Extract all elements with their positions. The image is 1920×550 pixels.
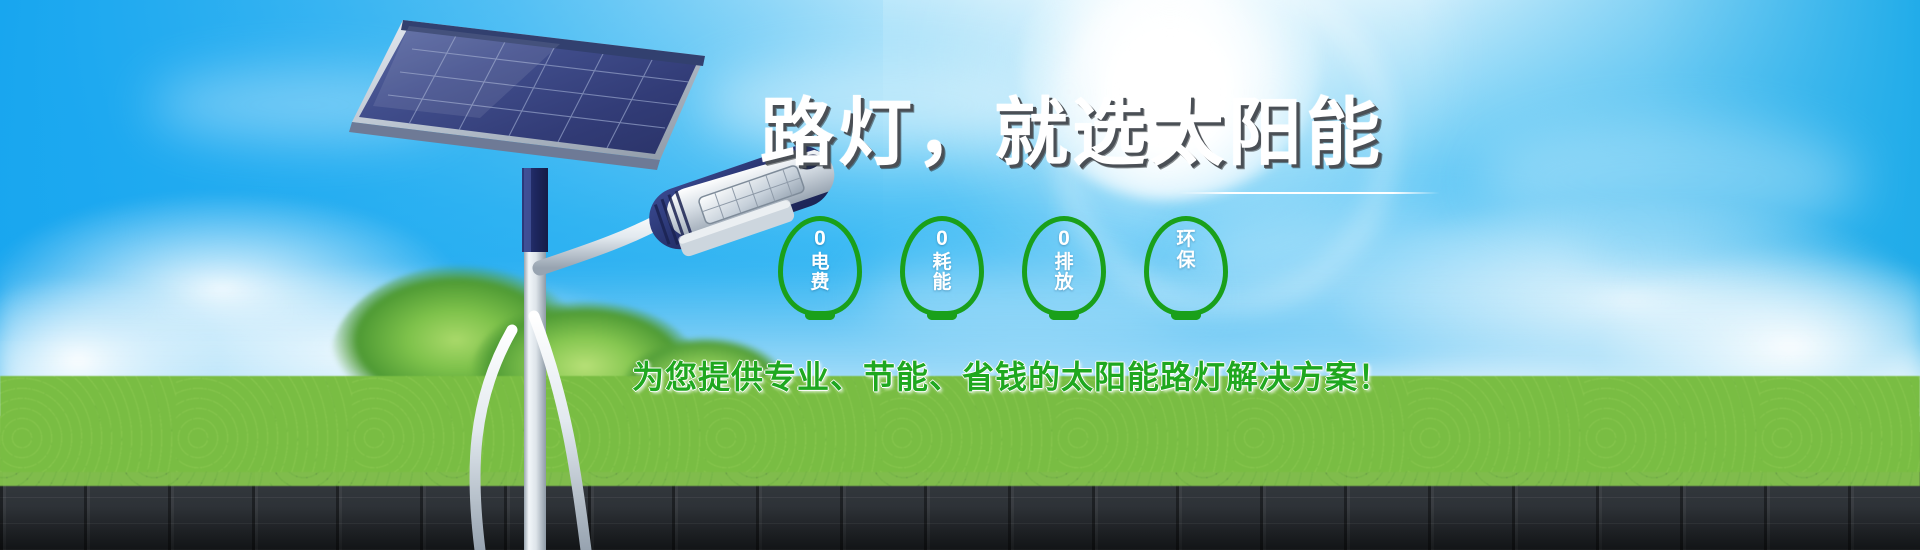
badge-char-2: 能 — [932, 273, 951, 294]
badge-char-1: 环 — [1176, 230, 1195, 251]
badge-char-2: 费 — [810, 273, 829, 294]
cloud-wisp — [150, 70, 450, 140]
solar-street-lamp-banner: 路灯，就选太阳能 0 电 费 0 耗 能 — [0, 0, 1920, 550]
badge-zero-glyph: 0 — [1058, 228, 1070, 251]
feature-badge-list: 0 电 费 0 耗 能 0 排 放 — [778, 216, 1500, 324]
title-divider — [1178, 192, 1440, 194]
badge-label: 0 排 放 — [1022, 228, 1106, 294]
cloud-wisp — [1480, 120, 1860, 240]
badge-zero-glyph: 0 — [936, 228, 948, 251]
feature-badge-power-cost[interactable]: 0 电 费 — [778, 216, 862, 324]
feature-badge-eco-friendly[interactable]: 环 保 — [1144, 216, 1228, 324]
badge-char-1: 电 — [810, 253, 829, 274]
badge-char-1: 排 — [1054, 253, 1073, 274]
feature-badge-emissions[interactable]: 0 排 放 — [1022, 216, 1106, 324]
banner-subtitle: 为您提供专业、节能、省钱的太阳能路灯解决方案！ — [632, 352, 1500, 398]
banner-copy: 路灯，就选太阳能 0 电 费 0 耗 能 — [760, 96, 1500, 398]
badge-char-2: 放 — [1054, 273, 1073, 294]
badge-char-2: 保 — [1176, 251, 1195, 272]
badge-zero-glyph: 0 — [814, 228, 826, 251]
feature-badge-energy-consumption[interactable]: 0 耗 能 — [900, 216, 984, 324]
page-title: 路灯，就选太阳能 — [760, 96, 1500, 170]
badge-char-1: 耗 — [932, 253, 951, 274]
badge-label: 环 保 — [1144, 228, 1228, 271]
badge-label: 0 电 费 — [778, 228, 862, 294]
wall-shadow — [0, 506, 1920, 550]
badge-label: 0 耗 能 — [900, 228, 984, 294]
